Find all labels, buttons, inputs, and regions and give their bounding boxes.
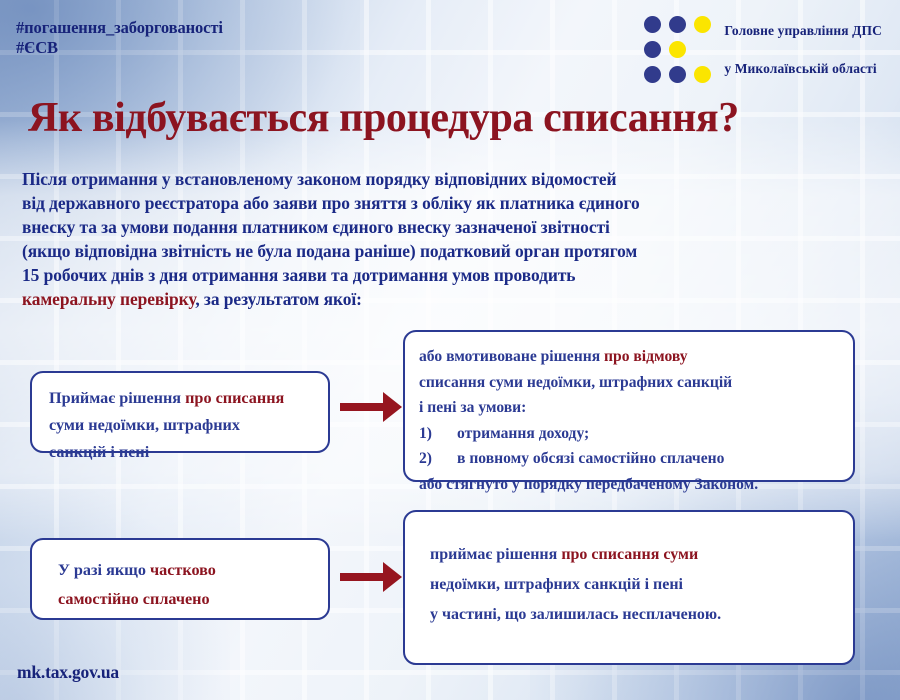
decision-box-partial-payment: У разі якщо частково самостійно сплачено <box>30 538 330 620</box>
condition-item-1: 1)отримання доходу; <box>419 421 853 447</box>
condition-item-1-text: отримання доходу; <box>457 421 589 447</box>
arrow-2-head <box>383 562 402 592</box>
decision-box-writeoff: Приймає рішення про списання суми недоїм… <box>30 371 330 453</box>
box-right-2-line-1-a: приймає рішення <box>430 546 561 563</box>
box-right-2-line-1: приймає рішення про списання суми <box>430 540 853 570</box>
intro-line-1: Після отримання у встановленому законом … <box>22 167 884 191</box>
box-left-1-highlight: про списання <box>185 389 284 407</box>
logo-line-region: у Миколаївській області <box>724 61 882 77</box>
box-right-1-line-1-a: або вмотивоване рішення <box>419 348 604 365</box>
logo-dot-r1c2 <box>669 16 686 33</box>
condition-item-1-number: 1) <box>419 421 457 447</box>
box-right-2-highlight: про списання суми <box>561 546 698 563</box>
box-right-1-line-2: списання суми недоїмки, штрафних санкцій <box>419 370 853 396</box>
arrow-right-icon-2 <box>340 562 402 592</box>
logo-dot-r1c3 <box>694 16 711 33</box>
hashtags: #погашення_заборгованості #ЄСВ <box>16 18 223 58</box>
box-left-1-line-3: санкцій і пені <box>49 439 328 466</box>
box-left-2-highlight: частково <box>150 561 216 579</box>
arrow-right-icon-1 <box>340 392 402 422</box>
box-left-2-line-1: У разі якщо частково <box>58 556 328 585</box>
arrow-2-shaft <box>340 573 384 581</box>
infographic-slide: #погашення_заборгованості #ЄСВ Головне у… <box>0 0 900 700</box>
footer-website-url: mk.tax.gov.ua <box>17 662 119 683</box>
box-left-1-line-2: суми недоїмки, штрафних <box>49 412 328 439</box>
box-right-1-line-1: або вмотивоване рішення про відмову <box>419 344 853 370</box>
dps-dot-grid-icon <box>644 16 714 86</box>
organization-logo: Головне управління ДПС у Миколаївській о… <box>644 14 882 86</box>
logo-dot-r2c1 <box>644 41 661 58</box>
condition-item-2-text: в повному обсязі самостійно сплачено <box>457 446 724 472</box>
box-left-2-line-2: самостійно сплачено <box>58 585 328 614</box>
decision-box-partial-writeoff: приймає рішення про списання суми недоїм… <box>403 510 855 665</box>
intro-line-5: 15 робочих днів з дня отримання заяви та… <box>22 263 884 287</box>
arrow-1-head <box>383 392 402 422</box>
intro-highlight-audit: камеральну перевірку <box>22 289 195 309</box>
logo-line-authority: Головне управління ДПС <box>724 23 882 39</box>
box-right-1-line-3: і пені за умови: <box>419 395 853 421</box>
box-left-1-line-1: Приймає рішення про списання <box>49 385 328 412</box>
box-left-1-line-1-a: Приймає рішення <box>49 389 185 407</box>
box-right-1-highlight: про відмову <box>604 348 688 365</box>
condition-item-2: 2)в повному обсязі самостійно сплачено <box>419 446 853 472</box>
page-title: Як відбувається процедура списання? <box>28 96 888 140</box>
condition-item-2-number: 2) <box>419 446 457 472</box>
box-left-2-line-1-a: У разі якщо <box>58 561 150 579</box>
logo-dot-r3c2 <box>669 66 686 83</box>
logo-dot-r2c2 <box>669 41 686 58</box>
logo-dot-r1c1 <box>644 16 661 33</box>
logo-dot-r3c3 <box>694 66 711 83</box>
logo-dot-r2c3 <box>694 41 711 58</box>
intro-paragraph: Після отримання у встановленому законом … <box>22 167 884 311</box>
intro-line-6-rest: , за результатом якої: <box>195 289 362 309</box>
logo-dot-r3c1 <box>644 66 661 83</box>
intro-line-6: камеральну перевірку, за результатом яко… <box>22 287 884 311</box>
intro-line-3: внеску та за умови подання платником єди… <box>22 215 884 239</box>
arrow-1-shaft <box>340 403 384 411</box>
decision-box-refusal: або вмотивоване рішення про відмову спис… <box>403 330 855 482</box>
box-right-2-line-2: недоїмки, штрафних санкцій і пені <box>430 570 853 600</box>
box-right-2-line-3: у частині, що залишилась несплаченою. <box>430 600 853 630</box>
intro-line-2: від державного реєстратора або заяви про… <box>22 191 884 215</box>
intro-line-4: (якщо відповідна звітність не була подан… <box>22 239 884 263</box>
box-right-1-line-tail: або стягнуто у порядку передбаченому Зак… <box>419 472 853 498</box>
